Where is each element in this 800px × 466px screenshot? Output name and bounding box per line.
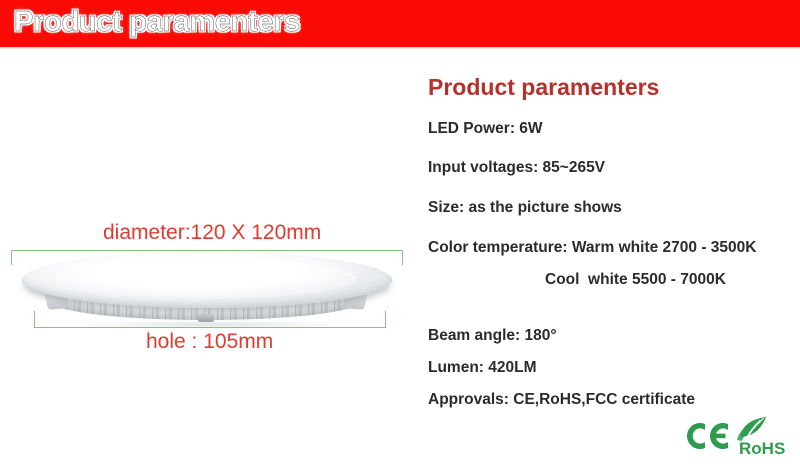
led-panel-light-illustration <box>22 252 392 324</box>
rohs-mark-icon: RoHS <box>734 416 792 458</box>
product-image-area: diameter:120 X 120mm hole : 105mm <box>0 49 412 466</box>
diameter-dimension-tick-left <box>11 250 12 265</box>
diameter-dimension-label: diameter:120 X 120mm <box>103 221 321 245</box>
svg-text:RoHS: RoHS <box>739 439 785 458</box>
spec-beam-angle: Beam angle: 180° <box>428 327 557 345</box>
page-header-banner: Product paramenters <box>0 0 800 47</box>
hole-dimension-tick-right <box>385 311 386 328</box>
diameter-dimension-line <box>11 250 403 251</box>
panel-inner-diffuser <box>56 259 356 299</box>
product-parameters-page: Product paramenters diameter:120 X 120mm… <box>0 0 800 466</box>
hole-dimension-tick-left <box>34 311 35 328</box>
hole-dimension-label: hole : 105mm <box>146 330 273 354</box>
panel-diffuser-face <box>22 252 392 308</box>
diameter-dimension-tick-right <box>402 250 403 265</box>
ce-mark-icon <box>684 419 732 453</box>
spec-color-temperature-cool: Cool white 5500 - 7000K <box>545 271 726 289</box>
spec-lumen: Lumen: 420LM <box>428 359 537 377</box>
spec-size: Size: as the picture shows <box>428 199 622 217</box>
certification-marks: RoHS <box>684 416 792 460</box>
spec-led-power: LED Power: 6W <box>428 120 543 138</box>
banner-title: Product paramenters <box>14 6 300 39</box>
spec-color-temperature: Color temperature: Warm white 2700 - 350… <box>428 239 756 257</box>
specifications-column: Product paramenters LED Power: 6W Input … <box>412 49 800 466</box>
panel-connector-nub <box>198 314 214 322</box>
hole-dimension-line <box>34 327 386 328</box>
spec-input-voltages: Input voltages: 85~265V <box>428 159 605 177</box>
specifications-heading: Product paramenters <box>428 74 659 101</box>
spec-approvals: Approvals: CE,RoHS,FCC certificate <box>428 391 695 409</box>
